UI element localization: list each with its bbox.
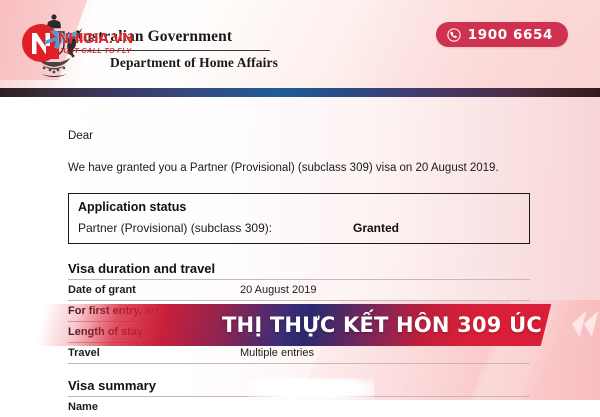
phone-badge[interactable]: 1900 6654	[436, 22, 568, 47]
table-row: For first entry, arrive by 20 August 202…	[68, 300, 530, 321]
row-key: Date of grant	[68, 284, 240, 296]
row-key: Name	[68, 401, 240, 413]
grant-sentence: We have granted you a Partner (Provision…	[68, 162, 530, 174]
row-value: Multiple entries	[240, 347, 314, 359]
row-key: For first entry, arrive by	[68, 305, 240, 317]
row-key: Travel	[68, 347, 240, 359]
watermark-brand-text: NHIGIA.VN	[58, 30, 133, 47]
visa-grant-letter: Dear We have granted you a Partner (Prov…	[0, 97, 600, 400]
table-row: Length of stay	[68, 321, 530, 342]
phone-icon	[447, 28, 461, 42]
visa-duration-heading: Visa duration and travel	[68, 261, 530, 279]
letterhead-header: Australian Government Department of Home…	[0, 0, 600, 88]
watermark-tagline: JUST CALL TO FLY	[59, 46, 131, 55]
table-row: Date of grant 20 August 2019	[68, 279, 530, 300]
table-row: Travel Multiple entries	[68, 342, 530, 364]
salutation: Dear	[68, 130, 530, 142]
scan-artifact	[248, 378, 374, 400]
application-status-box: Application status Partner (Provisional)…	[68, 193, 530, 244]
application-status-row: Partner (Provisional) (subclass 309): Gr…	[78, 221, 520, 235]
application-status-title: Application status	[78, 200, 520, 214]
header-gradient-rule	[0, 88, 600, 97]
status-badge: Granted	[353, 221, 399, 235]
watermark-logo: NHIGIA.VN JUST CALL TO FLY	[20, 22, 200, 64]
row-key: Length of stay	[68, 326, 240, 338]
application-status-label: Partner (Provisional) (subclass 309):	[78, 221, 353, 235]
row-value: 20 August 2019	[240, 284, 316, 296]
phone-number: 1900 6654	[468, 27, 553, 43]
row-value: 20 August 2020	[240, 305, 316, 317]
